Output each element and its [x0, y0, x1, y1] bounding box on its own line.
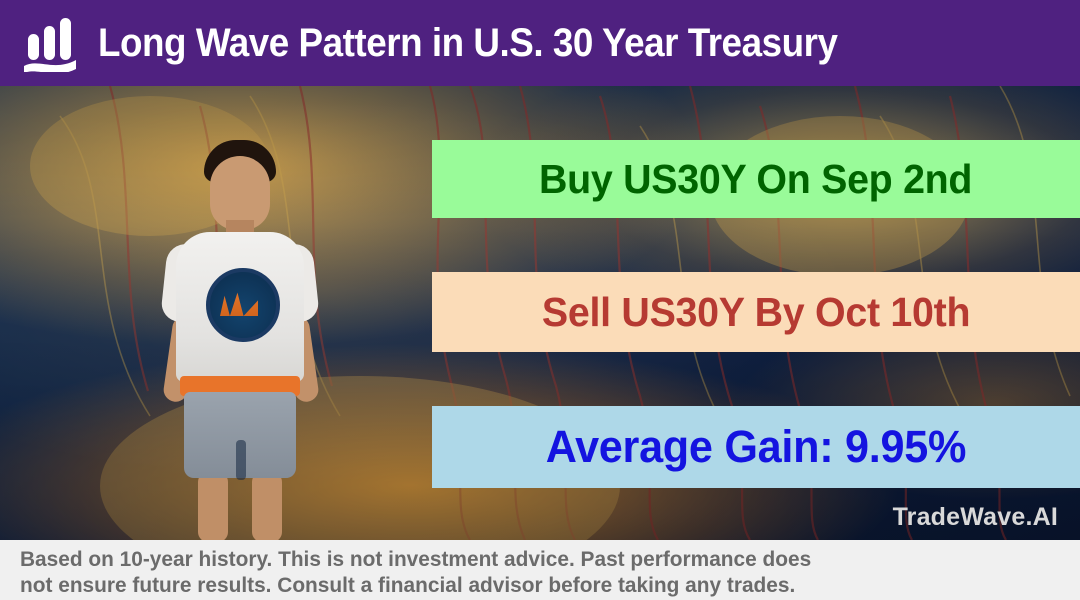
tshirt-team-logo-icon: [206, 268, 280, 342]
disclaimer-line-2: not ensure future results. Consult a fin…: [20, 572, 811, 598]
disclaimer-line-1: Based on 10-year history. This is not in…: [20, 546, 811, 572]
callout-buy-label: Buy US30Y On Sep 2nd: [539, 156, 972, 203]
person-leg-left: [198, 472, 228, 540]
callout-gain-label: Average Gain: 9.95%: [546, 421, 966, 473]
person-figure: [150, 140, 360, 540]
callout-sell: Sell US30Y By Oct 10th: [432, 272, 1080, 352]
person-leg-right: [252, 472, 282, 540]
brand-watermark: TradeWave.AI: [893, 503, 1058, 532]
person-shorts-gap: [236, 440, 246, 480]
disclaimer-footer: Based on 10-year history. This is not in…: [0, 540, 1080, 600]
promo-card: Long Wave Pattern in U.S. 30 Year Treasu…: [0, 0, 1080, 600]
header-bar: Long Wave Pattern in U.S. 30 Year Treasu…: [0, 0, 1080, 86]
callout-sell-label: Sell US30Y By Oct 10th: [542, 289, 970, 336]
person-head: [210, 156, 270, 230]
page-title: Long Wave Pattern in U.S. 30 Year Treasu…: [98, 23, 837, 63]
tradewave-logo-icon: [24, 16, 82, 72]
callout-buy: Buy US30Y On Sep 2nd: [432, 140, 1080, 218]
callout-average-gain: Average Gain: 9.95%: [432, 406, 1080, 488]
disclaimer-text: Based on 10-year history. This is not in…: [20, 546, 836, 598]
